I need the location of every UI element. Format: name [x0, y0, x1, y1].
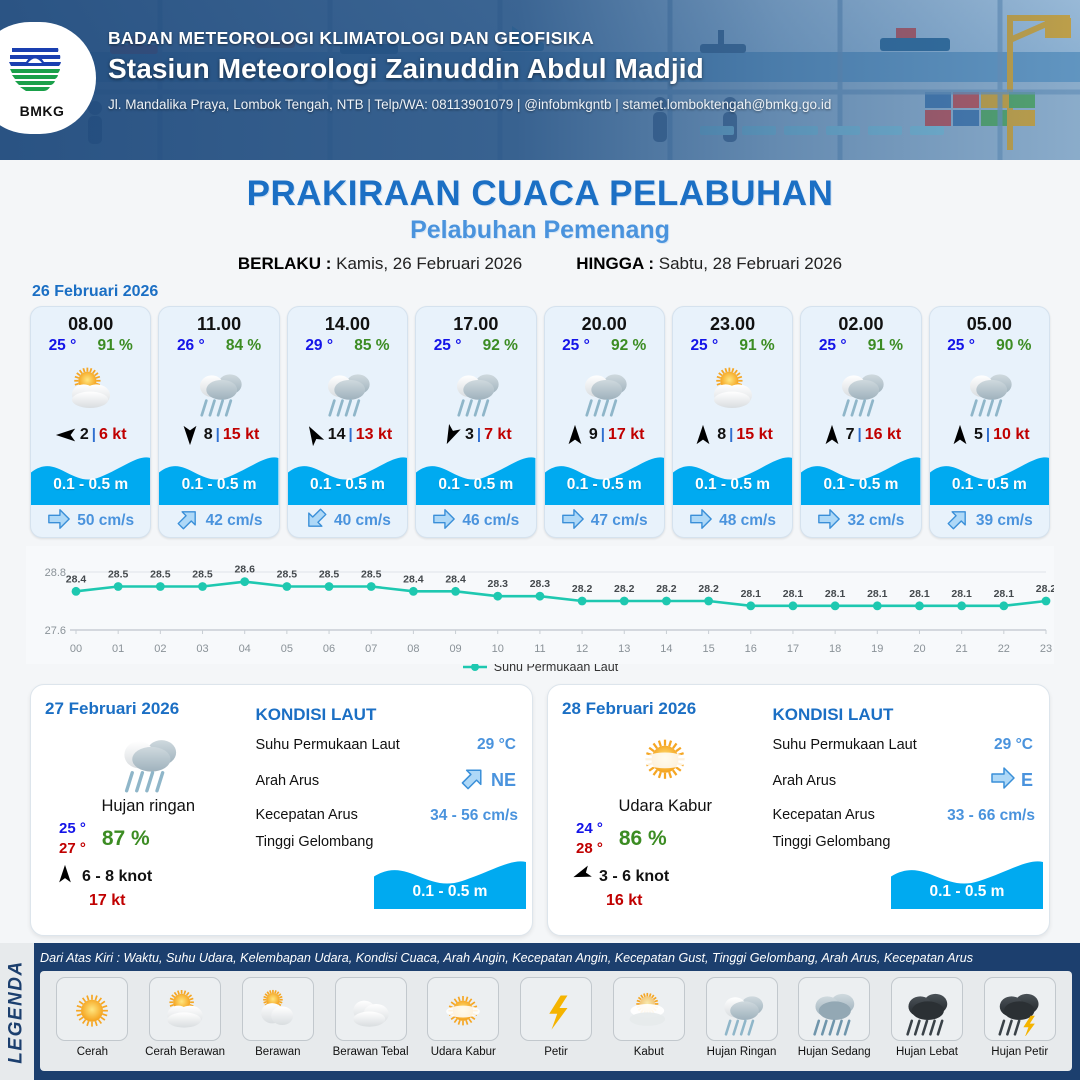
panel-gust: 16 kt: [562, 892, 768, 910]
current-direction-arrow-icon: [689, 507, 713, 536]
current-direction-label: Arah Arus: [772, 773, 836, 789]
card-wind-row: 8 | 15 kt: [673, 419, 792, 449]
card-temperature: 25 °: [49, 337, 77, 355]
svg-text:28.1: 28.1: [867, 588, 888, 600]
current-direction-value: E: [1021, 770, 1033, 791]
wave-height: 0.1 - 0.5 m: [31, 476, 150, 494]
legend-item-label: Hujan Ringan: [707, 1046, 777, 1058]
wave-row: Tinggi Gelombang: [255, 834, 516, 850]
legend-item-label: Udara Kabur: [431, 1046, 496, 1058]
forecast-card[interactable]: 17.00 25 ° 92 % 3 | 7 kt 0.1 - 0.5 m 46 …: [415, 306, 536, 538]
sea-condition-title: KONDISI LAUT: [255, 705, 516, 725]
card-wind-row: 2 | 6 kt: [31, 419, 150, 449]
svg-text:12: 12: [576, 643, 588, 655]
panel-condition: Udara Kabur: [562, 797, 768, 816]
daily-forecast-panel[interactable]: 28 Februari 2026 Udara Kabur 24 ° 28 ° 8…: [547, 684, 1050, 936]
card-wind-row: 9 | 17 kt: [545, 419, 664, 449]
legend-side-label: LEGENDA: [6, 960, 28, 1063]
legend-item-label: Berawan: [255, 1046, 300, 1058]
legend-note: Dari Atas Kiri : Waktu, Suhu Udara, Kele…: [40, 951, 973, 965]
card-temp-humidity-row: 25 ° 91 %: [801, 335, 920, 355]
wind-speed: 15 kt: [223, 426, 259, 444]
panel-temp-humidity: 25 ° 27 ° 87 %: [45, 820, 251, 857]
current-speed-value: 33 - 66 cm/s: [947, 807, 1035, 825]
forecast-card[interactable]: 23.00 25 ° 91 % 8 | 15 kt 0.1 - 0.5 m 48…: [672, 306, 793, 538]
weather-cerah-berawan-icon: [31, 357, 150, 419]
wind-separator: |: [92, 426, 96, 443]
svg-text:23: 23: [1040, 643, 1052, 655]
panel-temp-min: 24 °: [576, 820, 603, 837]
svg-text:28.3: 28.3: [530, 578, 551, 590]
svg-text:28.3: 28.3: [488, 578, 509, 590]
wind-speed: 7 kt: [484, 426, 512, 444]
svg-text:28.2: 28.2: [656, 583, 677, 595]
weather-cerah-icon: [56, 977, 128, 1041]
panel-gust: 17 kt: [45, 892, 251, 910]
card-temp-humidity-row: 29 ° 85 %: [288, 335, 407, 355]
wave-height: 0.1 - 0.5 m: [930, 476, 1049, 494]
weather-berawan-icon: [242, 977, 314, 1041]
card-temp-humidity-row: 25 ° 91 %: [31, 335, 150, 355]
sst-value: 29 °C: [477, 736, 516, 754]
svg-text:07: 07: [365, 643, 377, 655]
wind-separator: |: [216, 426, 220, 443]
legend-item: Cerah: [46, 977, 139, 1058]
card-temp-humidity-row: 25 ° 90 %: [930, 335, 1049, 355]
agency-name: BADAN METEOROLOGI KLIMATOLOGI DAN GEOFIS…: [108, 28, 831, 49]
panel-wave-value: 0.1 - 0.5 m: [891, 883, 1043, 901]
sst-label: Suhu Permukaan Laut: [255, 737, 399, 753]
panel-wind-range: 3 - 6 knot: [599, 868, 669, 886]
card-wave-section: 0.1 - 0.5 m: [31, 449, 150, 505]
legend-item-label: Hujan Sedang: [798, 1046, 871, 1058]
card-wind-row: 8 | 15 kt: [159, 419, 278, 449]
weather-cerah-berawan-icon: [673, 357, 792, 419]
wind-direction-arrow-icon: [55, 424, 77, 446]
svg-text:00: 00: [70, 643, 82, 655]
weather-hujan-petir-icon: [984, 977, 1056, 1041]
wave-label: Tinggi Gelombang: [772, 834, 890, 850]
title-block: PRAKIRAAN CUACA PELABUHAN Pelabuhan Peme…: [0, 160, 1080, 274]
valid-from: BERLAKU : Kamis, 26 Februari 2026: [238, 254, 522, 274]
current-speed: 47 cm/s: [591, 512, 648, 530]
legend-item: Hujan Ringan: [695, 977, 788, 1058]
card-current-row: 40 cm/s: [288, 505, 407, 537]
sst-label: Suhu Permukaan Laut: [772, 737, 916, 753]
svg-text:28.5: 28.5: [192, 569, 213, 581]
card-humidity: 92 %: [483, 337, 518, 355]
card-time: 11.00: [159, 307, 278, 335]
card-current-row: 50 cm/s: [31, 505, 150, 537]
validity-row: BERLAKU : Kamis, 26 Februari 2026 HINGGA…: [0, 254, 1080, 274]
wind-direction-arrow-icon: [179, 424, 201, 446]
card-humidity: 84 %: [226, 337, 261, 355]
current-direction-arrow-icon: [460, 765, 486, 796]
current-direction-arrow-icon: [990, 765, 1016, 796]
legend-item: Berawan Tebal: [324, 977, 417, 1058]
card-current-row: 39 cm/s: [930, 505, 1049, 537]
weather-hujan-ringan-icon: [159, 357, 278, 419]
station-contact: Jl. Mandalika Praya, Lombok Tengah, NTB …: [108, 97, 831, 112]
svg-text:02: 02: [154, 643, 166, 655]
sst-chart: 28.827.628.40028.50128.50228.50328.60428…: [26, 546, 1054, 664]
current-speed-value: 34 - 56 cm/s: [430, 807, 518, 825]
svg-text:04: 04: [239, 643, 251, 655]
sst-row: Suhu Permukaan Laut 29 °C: [255, 736, 516, 754]
card-humidity: 91 %: [739, 337, 774, 355]
station-name: Stasiun Meteorologi Zainuddin Abdul Madj…: [108, 53, 831, 85]
current-direction-arrow-icon: [817, 507, 841, 536]
bmkg-logo-icon: [4, 38, 66, 102]
panel-date: 27 Februari 2026: [45, 699, 251, 719]
card-temperature: 25 °: [947, 337, 975, 355]
wind-separator: |: [858, 426, 862, 443]
legend-item-label: Kabut: [634, 1046, 664, 1058]
current-direction-arrow-icon: [176, 507, 200, 536]
forecast-card-list: 08.00 25 ° 91 % 2 | 6 kt 0.1 - 0.5 m 50 …: [0, 306, 1080, 538]
weather-hujan-ringan-icon: [930, 357, 1049, 419]
current-speed: 32 cm/s: [847, 512, 904, 530]
weather-hujan-sedang-icon: [798, 977, 870, 1041]
svg-text:22: 22: [998, 643, 1010, 655]
card-temperature: 25 °: [819, 337, 847, 355]
wind-speed: 17 kt: [608, 426, 644, 444]
valid-from-label: BERLAKU :: [238, 254, 332, 273]
legend-item: Hujan Sedang: [788, 977, 881, 1058]
card-temp-humidity-row: 25 ° 92 %: [545, 335, 664, 355]
panel-left: 27 Februari 2026 Hujan ringan 25 ° 27 ° …: [31, 685, 251, 935]
svg-text:28.1: 28.1: [825, 588, 846, 600]
svg-text:20: 20: [913, 643, 925, 655]
svg-text:28.2: 28.2: [614, 583, 635, 595]
forecast-card[interactable]: 11.00 26 ° 84 % 8 | 15 kt 0.1 - 0.5 m 42…: [158, 306, 279, 538]
svg-text:15: 15: [702, 643, 714, 655]
card-current-row: 46 cm/s: [416, 505, 535, 537]
current-speed: 42 cm/s: [206, 512, 263, 530]
legend-item-label: Cerah Berawan: [145, 1046, 225, 1058]
card-temp-humidity-row: 25 ° 92 %: [416, 335, 535, 355]
current-speed: 48 cm/s: [719, 512, 776, 530]
weather-cerah-berawan-icon: [149, 977, 221, 1041]
card-wind-row: 14 | 13 kt: [288, 419, 407, 449]
current-direction-arrow-icon: [47, 507, 71, 536]
wind-speed: 15 kt: [736, 426, 772, 444]
wind-speed: 13 kt: [356, 426, 392, 444]
current-speed: 50 cm/s: [77, 512, 134, 530]
panel-wind-row: 3 - 6 knot: [562, 864, 768, 889]
svg-text:28.4: 28.4: [66, 573, 87, 585]
svg-text:27.6: 27.6: [45, 625, 66, 637]
weather-hujan-ringan-icon: [706, 977, 778, 1041]
svg-text:06: 06: [323, 643, 335, 655]
svg-text:05: 05: [281, 643, 293, 655]
wind-direction-value: 7: [846, 426, 855, 444]
valid-until-value: Sabtu, 28 Februari 2026: [659, 254, 842, 273]
weather-petir-icon: [520, 977, 592, 1041]
current-speed-label: Kecepatan Arus: [255, 807, 357, 823]
panel-temp-max: 28 °: [576, 840, 603, 857]
panel-wave-value: 0.1 - 0.5 m: [374, 883, 526, 901]
current-speed: 39 cm/s: [976, 512, 1033, 530]
svg-text:28.8: 28.8: [45, 567, 66, 579]
card-wind-row: 3 | 7 kt: [416, 419, 535, 449]
card-temperature: 26 °: [177, 337, 205, 355]
valid-from-value: Kamis, 26 Februari 2026: [336, 254, 522, 273]
wind-direction-arrow-icon: [440, 424, 462, 446]
current-direction-arrow-icon: [561, 507, 585, 536]
forecast-card[interactable]: 20.00 25 ° 92 % 9 | 17 kt 0.1 - 0.5 m 47…: [544, 306, 665, 538]
svg-text:28.1: 28.1: [994, 588, 1015, 600]
legend-item: Hujan Petir: [973, 977, 1066, 1058]
sst-value: 29 °C: [994, 736, 1033, 754]
svg-text:28.4: 28.4: [445, 573, 466, 585]
wind-direction-value: 8: [204, 426, 213, 444]
current-direction-arrow-icon: [432, 507, 456, 536]
card-time: 02.00: [801, 307, 920, 335]
wind-direction-value: 14: [328, 426, 346, 444]
weather-udara-kabur-icon: [562, 721, 768, 793]
daily-panel-list: 27 Februari 2026 Hujan ringan 25 ° 27 ° …: [0, 674, 1080, 936]
card-temperature: 25 °: [562, 337, 590, 355]
svg-text:28.5: 28.5: [361, 569, 382, 581]
wind-separator: |: [601, 426, 605, 443]
panel-humidity: 87 %: [102, 827, 150, 851]
valid-until: HINGGA : Sabtu, 28 Februari 2026: [576, 254, 842, 274]
card-wave-section: 0.1 - 0.5 m: [673, 449, 792, 505]
panel-wave-box: 0.1 - 0.5 m: [374, 853, 526, 909]
forecast-card[interactable]: 05.00 25 ° 90 % 5 | 10 kt 0.1 - 0.5 m 39…: [929, 306, 1050, 538]
page-subtitle: Pelabuhan Pemenang: [0, 216, 1080, 245]
card-temperature: 29 °: [305, 337, 333, 355]
forecast-card[interactable]: 14.00 29 ° 85 % 14 | 13 kt 0.1 - 0.5 m 4…: [287, 306, 408, 538]
panel-humidity: 86 %: [619, 827, 667, 851]
svg-text:28.1: 28.1: [951, 588, 972, 600]
svg-text:28.1: 28.1: [909, 588, 930, 600]
weather-hujan-ringan-icon: [801, 357, 920, 419]
current-direction-value-group: E: [990, 765, 1033, 796]
wind-speed: 10 kt: [993, 426, 1029, 444]
legend-item: Hujan Lebat: [881, 977, 974, 1058]
card-wave-section: 0.1 - 0.5 m: [930, 449, 1049, 505]
card-time: 14.00: [288, 307, 407, 335]
card-current-row: 42 cm/s: [159, 505, 278, 537]
card-temperature: 25 °: [434, 337, 462, 355]
card-current-row: 47 cm/s: [545, 505, 664, 537]
weather-kabut-icon: [613, 977, 685, 1041]
current-direction-row: Arah Arus NE: [255, 765, 516, 796]
wind-direction-value: 3: [465, 426, 474, 444]
wind-separator: |: [986, 426, 990, 443]
wind-direction-value: 8: [717, 426, 726, 444]
svg-text:28.5: 28.5: [319, 569, 340, 581]
svg-text:14: 14: [660, 643, 672, 655]
svg-text:10: 10: [492, 643, 504, 655]
legend-items: Cerah Cerah Berawan Berawan Berawan Teba…: [40, 971, 1072, 1071]
wind-speed: 16 kt: [865, 426, 901, 444]
wind-direction-arrow-icon: [572, 864, 592, 889]
panel-date: 28 Februari 2026: [562, 699, 768, 719]
card-current-row: 48 cm/s: [673, 505, 792, 537]
card-humidity: 85 %: [354, 337, 389, 355]
wind-direction-arrow-icon: [949, 424, 971, 446]
panel-right: KONDISI LAUT Suhu Permukaan Laut 29 °C A…: [251, 685, 532, 935]
svg-text:28.5: 28.5: [150, 569, 171, 581]
legend-item: Petir: [510, 977, 603, 1058]
svg-text:11: 11: [534, 643, 545, 655]
legend-item: Berawan: [231, 977, 324, 1058]
card-wave-section: 0.1 - 0.5 m: [545, 449, 664, 505]
wind-direction-arrow-icon: [55, 864, 75, 889]
svg-text:16: 16: [745, 643, 757, 655]
current-speed: 46 cm/s: [462, 512, 519, 530]
legend-item-label: Berawan Tebal: [333, 1046, 409, 1058]
legend-item-label: Hujan Petir: [991, 1046, 1048, 1058]
current-direction-row: Arah Arus E: [772, 765, 1033, 796]
card-wind-row: 5 | 10 kt: [930, 419, 1049, 449]
panel-wind-range: 6 - 8 knot: [82, 868, 152, 886]
panel-wave-box: 0.1 - 0.5 m: [891, 853, 1043, 909]
weather-hujan-lebat-icon: [891, 977, 963, 1041]
wind-separator: |: [477, 426, 481, 443]
legend-bar: LEGENDA Dari Atas Kiri : Waktu, Suhu Uda…: [0, 943, 1080, 1080]
svg-text:13: 13: [618, 643, 630, 655]
legend-item: Udara Kabur: [417, 977, 510, 1058]
wind-direction-value: 9: [589, 426, 598, 444]
panel-temp-min: 25 °: [59, 820, 86, 837]
weather-hujan-ringan-icon: [416, 357, 535, 419]
card-wave-section: 0.1 - 0.5 m: [416, 449, 535, 505]
bmkg-logo-text: BMKG: [20, 103, 65, 119]
legend-item-label: Cerah: [77, 1046, 108, 1058]
card-humidity: 92 %: [611, 337, 646, 355]
wind-direction-arrow-icon: [692, 424, 714, 446]
wind-direction-value: 2: [80, 426, 89, 444]
wave-height: 0.1 - 0.5 m: [288, 476, 407, 494]
wind-direction-arrow-icon: [821, 424, 843, 446]
wave-height: 0.1 - 0.5 m: [673, 476, 792, 494]
weather-berawan-tebal-icon: [335, 977, 407, 1041]
card-humidity: 90 %: [996, 337, 1031, 355]
svg-text:28.2: 28.2: [1036, 583, 1054, 595]
svg-text:21: 21: [956, 643, 968, 655]
wind-direction-value: 5: [974, 426, 983, 444]
panel-condition: Hujan ringan: [45, 797, 251, 816]
weather-udara-kabur-icon: [427, 977, 499, 1041]
current-direction-arrow-icon: [304, 507, 328, 536]
svg-text:01: 01: [112, 643, 124, 655]
legend-item: Cerah Berawan: [139, 977, 232, 1058]
card-time: 20.00: [545, 307, 664, 335]
card-wind-row: 7 | 16 kt: [801, 419, 920, 449]
sst-row: Suhu Permukaan Laut 29 °C: [772, 736, 1033, 754]
panel-right: KONDISI LAUT Suhu Permukaan Laut 29 °C A…: [768, 685, 1049, 935]
svg-text:28.1: 28.1: [741, 588, 762, 600]
card-humidity: 91 %: [868, 337, 903, 355]
wind-direction-arrow-icon: [564, 424, 586, 446]
wave-height: 0.1 - 0.5 m: [801, 476, 920, 494]
svg-text:17: 17: [787, 643, 799, 655]
sea-condition-title: KONDISI LAUT: [772, 705, 1033, 725]
current-speed-label: Kecepatan Arus: [772, 807, 874, 823]
svg-text:18: 18: [829, 643, 841, 655]
panel-temp-humidity: 24 ° 28 ° 86 %: [562, 820, 768, 857]
forecast-day-label: 26 Februari 2026: [32, 283, 1080, 301]
weather-hujan-ringan-icon: [45, 721, 251, 793]
card-temp-humidity-row: 26 ° 84 %: [159, 335, 278, 355]
wind-separator: |: [729, 426, 733, 443]
wind-speed: 6 kt: [99, 426, 127, 444]
card-time: 17.00: [416, 307, 535, 335]
panel-wind-row: 6 - 8 knot: [45, 864, 251, 889]
card-temp-humidity-row: 25 ° 91 %: [673, 335, 792, 355]
current-direction-arrow-icon: [946, 507, 970, 536]
legend-item-label: Hujan Lebat: [896, 1046, 958, 1058]
svg-text:09: 09: [449, 643, 461, 655]
current-speed: 40 cm/s: [334, 512, 391, 530]
svg-text:28.5: 28.5: [108, 569, 129, 581]
card-humidity: 91 %: [97, 337, 132, 355]
daily-forecast-panel[interactable]: 27 Februari 2026 Hujan ringan 25 ° 27 ° …: [30, 684, 533, 936]
card-wave-section: 0.1 - 0.5 m: [159, 449, 278, 505]
wave-height: 0.1 - 0.5 m: [416, 476, 535, 494]
card-current-row: 32 cm/s: [801, 505, 920, 537]
legend-side-label-wrap: LEGENDA: [0, 943, 34, 1080]
card-wave-section: 0.1 - 0.5 m: [801, 449, 920, 505]
page-header: BMKG BADAN METEOROLOGI KLIMATOLOGI DAN G…: [0, 0, 1080, 160]
current-direction-value-group: NE: [460, 765, 516, 796]
legend-item: Kabut: [602, 977, 695, 1058]
wave-height: 0.1 - 0.5 m: [545, 476, 664, 494]
valid-until-label: HINGGA :: [576, 254, 654, 273]
panel-temp-max: 27 °: [59, 840, 86, 857]
legend-item-label: Petir: [544, 1046, 568, 1058]
panel-left: 28 Februari 2026 Udara Kabur 24 ° 28 ° 8…: [548, 685, 768, 935]
panel-temp-col: 25 ° 27 °: [59, 820, 86, 857]
svg-text:28.5: 28.5: [277, 569, 298, 581]
svg-text:08: 08: [407, 643, 419, 655]
svg-text:28.6: 28.6: [234, 564, 255, 576]
card-temperature: 25 °: [690, 337, 718, 355]
forecast-card[interactable]: 08.00 25 ° 91 % 2 | 6 kt 0.1 - 0.5 m 50 …: [30, 306, 151, 538]
weather-hujan-ringan-icon: [545, 357, 664, 419]
weather-hujan-ringan-icon: [288, 357, 407, 419]
svg-text:28.1: 28.1: [783, 588, 804, 600]
svg-text:03: 03: [196, 643, 208, 655]
svg-text:28.2: 28.2: [572, 583, 593, 595]
card-time: 08.00: [31, 307, 150, 335]
svg-text:28.4: 28.4: [403, 573, 424, 585]
wave-label: Tinggi Gelombang: [255, 834, 373, 850]
current-direction-label: Arah Arus: [255, 773, 319, 789]
forecast-card[interactable]: 02.00 25 ° 91 % 7 | 16 kt 0.1 - 0.5 m 32…: [800, 306, 921, 538]
header-text-block: BADAN METEOROLOGI KLIMATOLOGI DAN GEOFIS…: [108, 28, 831, 112]
svg-text:28.2: 28.2: [698, 583, 719, 595]
current-direction-value: NE: [491, 770, 516, 791]
card-time: 05.00: [930, 307, 1049, 335]
sst-chart-svg: 28.827.628.40028.50128.50228.50328.60428…: [26, 546, 1054, 664]
panel-temp-col: 24 ° 28 °: [576, 820, 603, 857]
card-time: 23.00: [673, 307, 792, 335]
wave-row: Tinggi Gelombang: [772, 834, 1033, 850]
page-title: PRAKIRAAN CUACA PELABUHAN: [0, 174, 1080, 214]
svg-text:19: 19: [871, 643, 883, 655]
wind-separator: |: [349, 426, 353, 443]
card-wave-section: 0.1 - 0.5 m: [288, 449, 407, 505]
wave-height: 0.1 - 0.5 m: [159, 476, 278, 494]
wind-direction-arrow-icon: [303, 424, 325, 446]
